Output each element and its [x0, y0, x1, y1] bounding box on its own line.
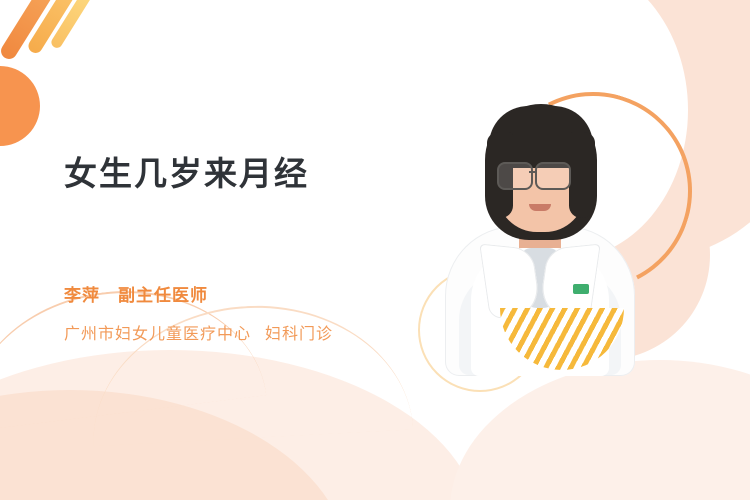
doctor-affiliation: 广州市妇女儿童医疗中心 妇科门诊 — [64, 320, 484, 344]
glasses-lens-right-icon — [535, 162, 571, 190]
doctor-name: 李萍 — [64, 281, 100, 306]
badge-icon — [573, 284, 589, 294]
video-cover-card: 女生几岁来月经 李萍 副主任医师 广州市妇女儿童医疗中心 妇科门诊 — [0, 0, 750, 500]
glasses-bridge-icon — [529, 171, 537, 173]
department-name: 妇科门诊 — [265, 320, 333, 344]
hair-right-shape — [569, 132, 595, 218]
orange-half-circle-icon — [0, 66, 40, 146]
doctor-title: 副主任医师 — [118, 281, 208, 306]
doctor-byline: 李萍 副主任医师 — [64, 281, 484, 306]
mouth-shape — [529, 204, 551, 211]
page-title: 女生几岁来月经 — [64, 147, 484, 195]
glasses-lens-left-icon — [497, 162, 533, 190]
text-content: 女生几岁来月经 李萍 副主任医师 广州市妇女儿童医疗中心 妇科门诊 — [64, 0, 484, 500]
hospital-name: 广州市妇女儿童医疗中心 — [64, 320, 251, 344]
